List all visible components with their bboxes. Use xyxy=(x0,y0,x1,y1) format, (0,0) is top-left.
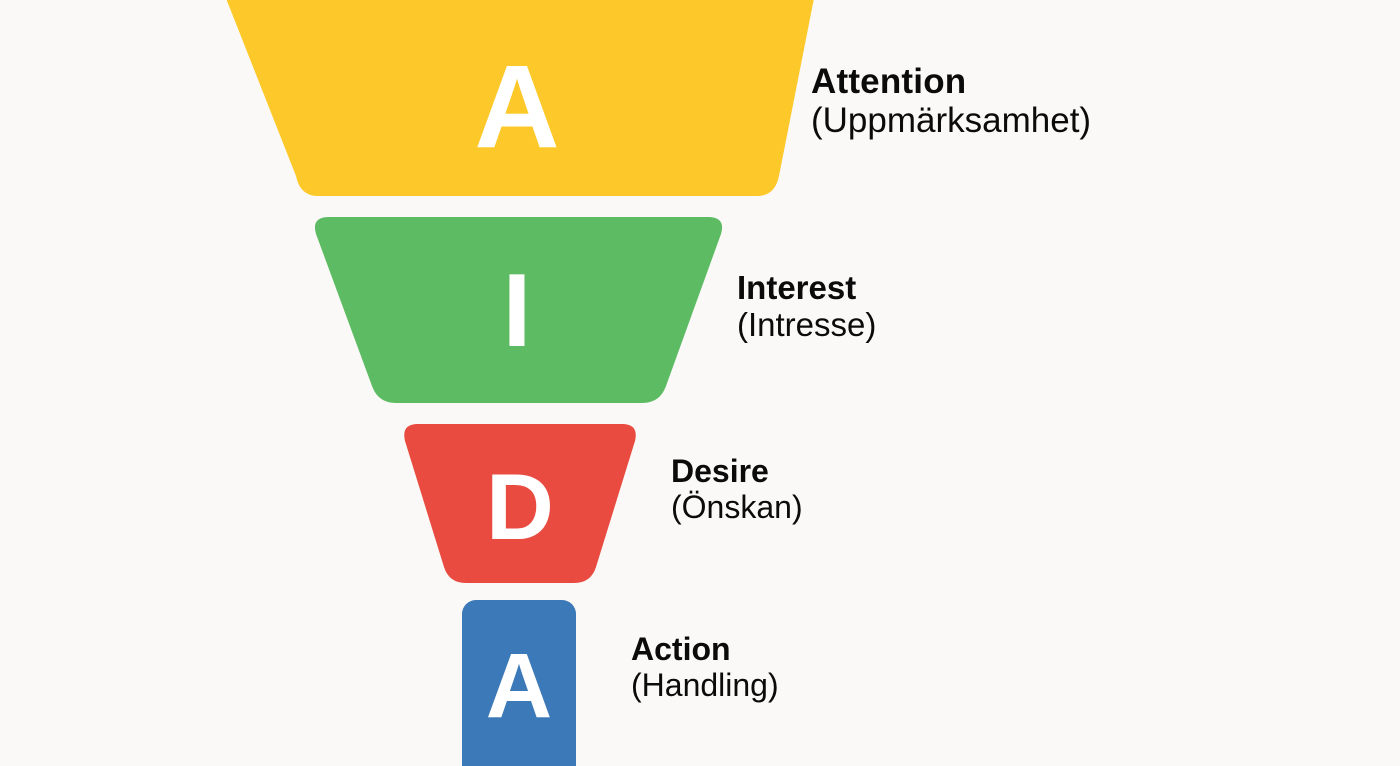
funnel-label-attention: Attention (Uppmärksamhet) xyxy=(811,62,1091,140)
funnel-letter-attention: A xyxy=(417,48,617,166)
funnel-letter-interest: I xyxy=(417,259,617,363)
funnel-label-interest: Interest (Intresse) xyxy=(737,270,876,344)
funnel-letter-desire: D xyxy=(420,460,620,554)
funnel-label-desire-translation: (Önskan) xyxy=(671,490,803,526)
funnel-label-attention-title: Attention xyxy=(811,62,1091,101)
funnel-label-desire-title: Desire xyxy=(671,454,803,490)
funnel-label-interest-title: Interest xyxy=(737,270,876,307)
funnel-label-action-title: Action xyxy=(631,632,779,668)
aida-funnel-diagram: A I D A Attention (Uppmärksamhet) Intere… xyxy=(0,0,1400,766)
funnel-letter-action: A xyxy=(419,640,619,732)
funnel-label-interest-translation: (Intresse) xyxy=(737,307,876,344)
funnel-label-action: Action (Handling) xyxy=(631,632,779,704)
funnel-label-action-translation: (Handling) xyxy=(631,668,779,704)
funnel-label-attention-translation: (Uppmärksamhet) xyxy=(811,101,1091,140)
funnel-label-desire: Desire (Önskan) xyxy=(671,454,803,526)
